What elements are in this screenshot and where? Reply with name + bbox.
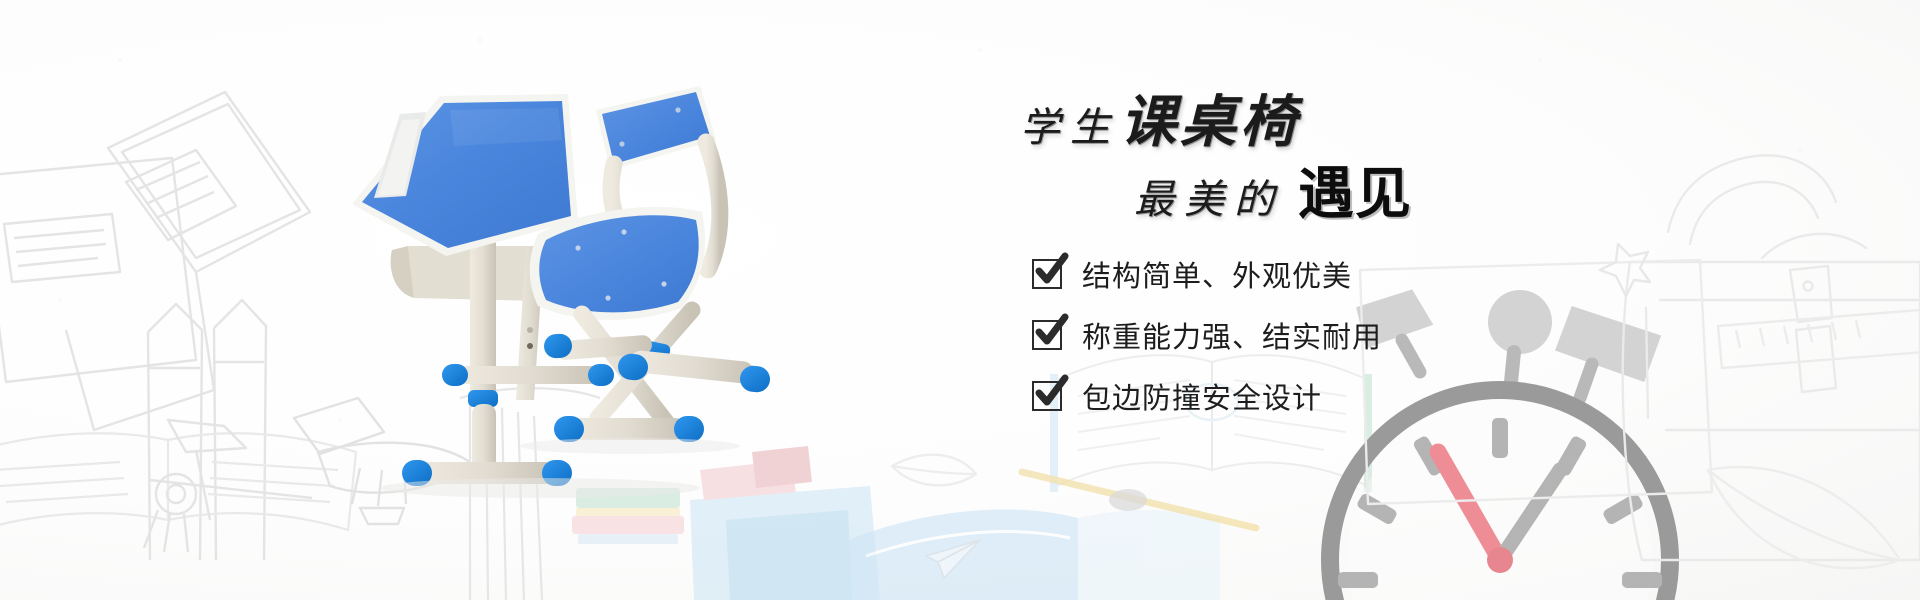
- feature-text: 结构简单、外观优美: [1082, 253, 1352, 295]
- background-decoration-layer: [0, 0, 1920, 600]
- open-book-illustration: [848, 509, 1220, 600]
- pencil-line-art: [148, 300, 266, 560]
- check-mark-icon: [1032, 259, 1062, 289]
- board-line-art: [1360, 260, 1712, 504]
- feature-list: 结构简单、外观优美 称重能力强、结实耐用 包边防撞安全设计: [1032, 253, 1382, 436]
- headline-line1-bold: 课桌椅: [1120, 95, 1300, 151]
- promo-banner: 学生 课桌椅 最美的 遇见 结构简单、外观优美: [0, 0, 1920, 600]
- leaf-line-art: [1708, 467, 1900, 568]
- headline-line2-heavy: 遇见: [1298, 167, 1412, 223]
- headline-line2-light: 最美的: [1134, 180, 1284, 220]
- headline-line-2: 最美的 遇见: [1134, 167, 1412, 223]
- open-book-line-art: [0, 433, 356, 530]
- headline-line1-light: 学生: [1020, 108, 1120, 148]
- feature-text: 称重能力强、结实耐用: [1082, 314, 1382, 356]
- feature-item: 结构简单、外观优美: [1032, 253, 1382, 295]
- paper-plane-illustration: [926, 540, 980, 578]
- desk-lamp-line-art: [144, 420, 312, 552]
- feature-text: 包边防撞安全设计: [1082, 375, 1322, 417]
- check-mark-icon: [1032, 381, 1062, 411]
- copy-block: 学生 课桌椅 最美的 遇见 结构简单、外观优美: [1012, 95, 1632, 245]
- notebook-line-art: [0, 92, 310, 430]
- star-line-art: [1600, 244, 1650, 296]
- product-image-desk-and-chair: [330, 70, 950, 500]
- check-mark-icon: [1032, 320, 1062, 350]
- pencil-illustration: [1022, 472, 1256, 528]
- feature-item: 包边防撞安全设计: [1032, 375, 1382, 417]
- ruler-line-art: [1718, 310, 1920, 368]
- headline-line-1: 学生 课桌椅: [1020, 95, 1300, 151]
- backpack-line-art: [1623, 155, 1920, 560]
- feature-item: 称重能力强、结实耐用: [1032, 314, 1382, 356]
- headline: 学生 课桌椅 最美的 遇见: [1012, 95, 1632, 245]
